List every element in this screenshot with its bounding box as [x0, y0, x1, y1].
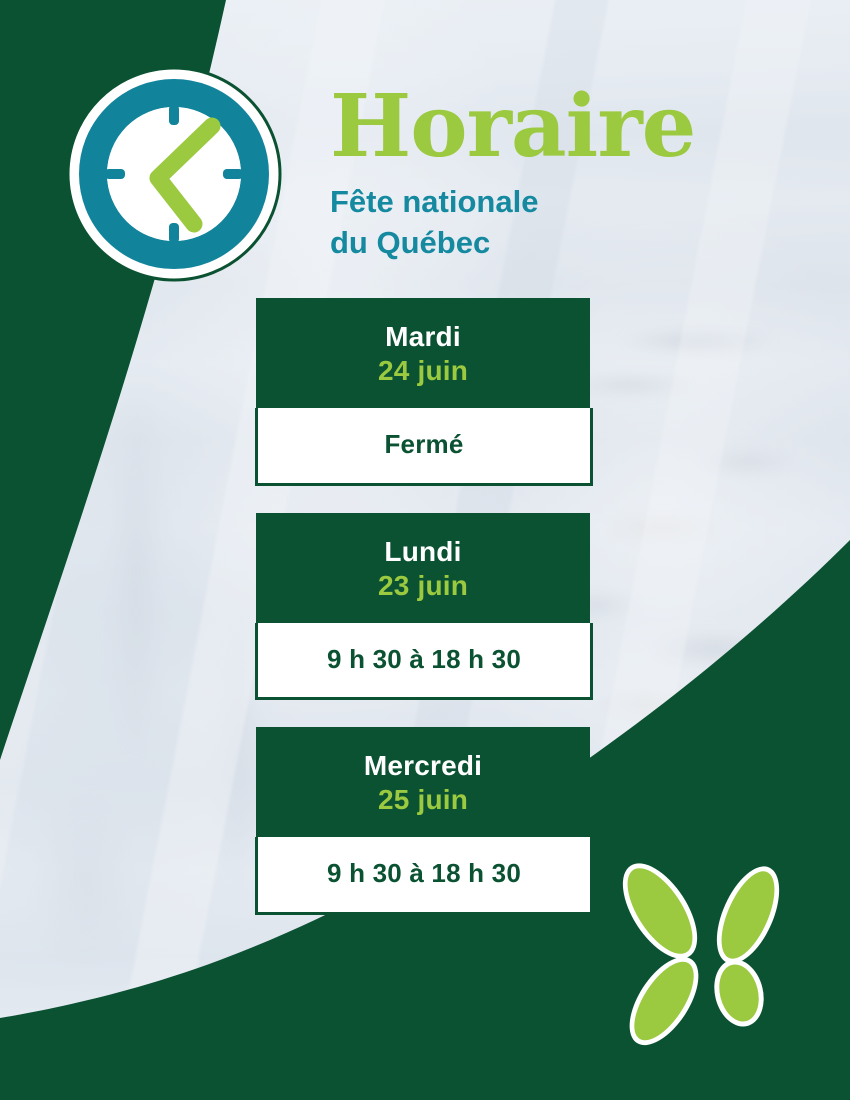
- schedule-hours-label: 9 h 30 à 18 h 30: [266, 858, 582, 889]
- schedule-card-body: 9 h 30 à 18 h 30: [255, 837, 593, 914]
- schedule-date-label: 23 juin: [266, 569, 580, 603]
- schedule-day-label: Mardi: [266, 320, 580, 354]
- schedule-card-header: Mardi 24 juin: [256, 298, 590, 408]
- butterfly-logo-icon: [612, 855, 802, 1055]
- schedule-card-body: 9 h 30 à 18 h 30: [255, 623, 593, 700]
- schedule-date-label: 25 juin: [266, 783, 580, 817]
- schedule-date-label: 24 juin: [266, 354, 580, 388]
- schedule-day-label: Mercredi: [266, 749, 580, 783]
- schedule-card-header: Lundi 23 juin: [256, 513, 590, 623]
- schedule-day-label: Lundi: [266, 535, 580, 569]
- schedule-card: Mercredi 25 juin 9 h 30 à 18 h 30: [255, 727, 595, 915]
- clock-icon: [66, 66, 282, 282]
- schedule-hours-label: 9 h 30 à 18 h 30: [266, 644, 582, 675]
- schedule-card-body: Fermé: [255, 408, 593, 485]
- schedule-card: Lundi 23 juin 9 h 30 à 18 h 30: [255, 513, 595, 701]
- page-title: Horaire: [330, 86, 750, 168]
- schedule-card: Mardi 24 juin Fermé: [255, 298, 595, 486]
- schedule-card-list: Mardi 24 juin Fermé Lundi 23 juin 9 h 30…: [255, 298, 595, 915]
- heading-block: Horaire Fête nationale du Québec: [330, 86, 750, 264]
- schedule-hours-label: Fermé: [266, 429, 582, 460]
- schedule-poster: Horaire Fête nationale du Québec Mardi 2…: [0, 0, 850, 1100]
- page-subtitle: Fête nationale du Québec: [330, 182, 750, 264]
- schedule-card-header: Mercredi 25 juin: [256, 727, 590, 837]
